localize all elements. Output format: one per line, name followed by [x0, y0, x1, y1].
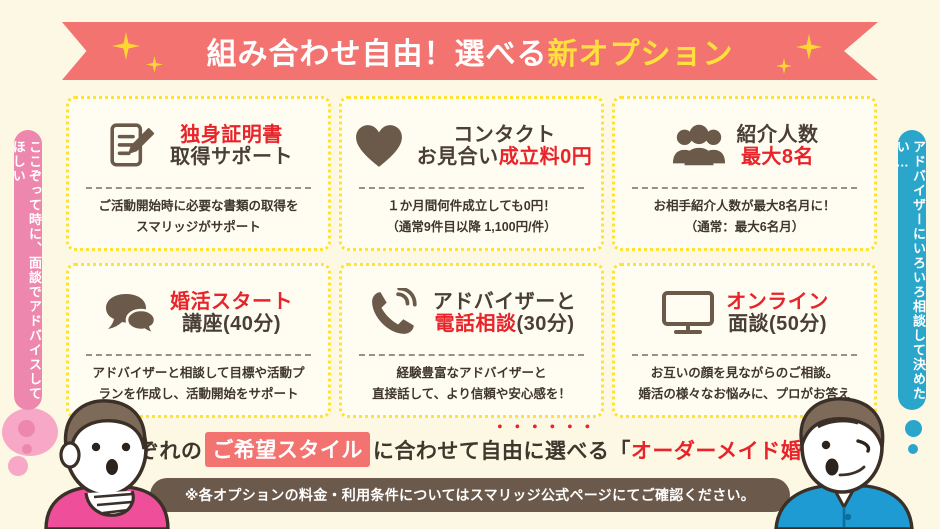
heart-icon — [351, 118, 407, 174]
card-description: 経験豊富なアドバイザーと 直接話して、より信頼や安心感を！ — [372, 363, 571, 404]
card-header: コンタクト お見合い成立料0円 — [350, 109, 593, 183]
card-description-line1: お互いの顔を見ながらのご相談。 — [638, 363, 850, 384]
tagline-part-2: に合わせて — [373, 435, 481, 465]
option-card-contact-fee[interactable]: コンタクト お見合い成立料0円 １か月間何件成立しても0円！ （通常9件目以降 … — [339, 96, 604, 251]
speech-bubbles-icon — [104, 285, 160, 341]
card-description-line2: （通常：最大6名月） — [654, 217, 836, 238]
tagline-emphasized: 自由に選べる — [480, 435, 609, 465]
card-description-line2: 直接話して、より信頼や安心感を！ — [372, 384, 571, 405]
card-title-block: アドバイザーと 電話相談(30分) — [433, 291, 577, 336]
card-description-line2: （通常9件目以降 1,100円/件） — [386, 217, 556, 238]
option-card-introduction-count[interactable]: 紹介人数 最大8名 お相手紹介人数が最大8名月に！ （通常：最大6名月） — [612, 96, 877, 251]
card-title-line2-accent: 成立料0円 — [499, 146, 593, 168]
card-title-line2: お見合い成立料0円 — [417, 146, 593, 168]
phone-ringing-icon — [367, 285, 423, 341]
option-card-phone-consult[interactable]: アドバイザーと 電話相談(30分) 経験豊富なアドバイザーと 直接話して、より信… — [339, 263, 604, 418]
card-header: オンライン 面談(50分) — [623, 276, 866, 350]
card-description: ご活動開始時に必要な書類の取得を スマリッジがサポート — [98, 196, 298, 237]
card-description: お相手紹介人数が最大8名月に！ （通常：最大6名月） — [654, 196, 836, 237]
card-description-line2: スマリッジがサポート — [98, 217, 298, 238]
card-title-line2: 最大8名 — [741, 146, 814, 168]
side-tab-left: ここぞって時に、面談でアドバイスしてほしい — [14, 130, 42, 410]
option-card-single-certificate[interactable]: 独身証明書 取得サポート ご活動開始時に必要な書類の取得を スマリッジがサポート — [66, 96, 331, 251]
card-description-line1: 経験豊富なアドバイザーと — [372, 363, 571, 384]
options-card-grid: 独身証明書 取得サポート ご活動開始時に必要な書類の取得を スマリッジがサポート… — [66, 96, 878, 418]
illustration-man — [762, 397, 922, 529]
card-divider — [86, 187, 312, 189]
card-title-line1: アドバイザーと — [433, 291, 577, 313]
monitor-icon — [660, 285, 716, 341]
tagline-highlight: ご希望スタイル — [205, 432, 370, 467]
banner-title-main: 組み合わせ自由！選べる — [207, 29, 548, 73]
option-card-start-seminar[interactable]: 婚活スタート 講座(40分) アドバイザーと相談して目標や活動プ ランを作成し、… — [66, 263, 331, 418]
card-title-block: コンタクト お見合い成立料0円 — [417, 124, 593, 169]
card-description: １か月間何件成立しても0円！ （通常9件目以降 1,100円/件） — [386, 196, 556, 237]
card-divider — [632, 187, 858, 189]
card-header: 独身証明書 取得サポート — [77, 109, 320, 183]
card-description-line1: １か月間何件成立しても0円！ — [386, 196, 556, 217]
card-title-line2-prefix: お見合い — [417, 146, 499, 168]
card-title-block: 紹介人数 最大8名 — [737, 124, 819, 169]
card-title-line2: 面談(50分) — [728, 313, 827, 335]
document-pencil-icon — [104, 118, 160, 174]
card-title-block: 独身証明書 取得サポート — [170, 124, 293, 169]
card-header: 婚活スタート 講座(40分) — [77, 276, 320, 350]
card-description-line1: お相手紹介人数が最大8名月に！ — [654, 196, 836, 217]
card-title-line2: 講座(40分) — [182, 313, 281, 335]
card-divider — [632, 354, 858, 356]
card-description-line1: ご活動開始時に必要な書類の取得を — [98, 196, 298, 217]
card-title-line1: 独身証明書 — [180, 124, 283, 146]
card-divider — [86, 354, 312, 356]
card-title-line1: 紹介人数 — [737, 124, 819, 146]
card-header: アドバイザーと 電話相談(30分) — [350, 276, 593, 350]
card-title-line2: 取得サポート — [170, 146, 293, 168]
tagline-bracket-open: 「 — [609, 435, 631, 465]
side-tab-right: アドバイザーにいろいろ相談して決めたい… — [898, 130, 926, 410]
card-title-block: 婚活スタート 講座(40分) — [170, 291, 293, 336]
banner-title: 組み合わせ自由！選べる 新オプション — [0, 22, 940, 80]
header-banner: 組み合わせ自由！選べる 新オプション — [0, 22, 940, 80]
card-title-line1: 婚活スタート — [170, 291, 293, 313]
banner-title-accent: 新オプション — [548, 29, 734, 73]
card-title-block: オンライン 面談(50分) — [726, 291, 829, 336]
card-title-line1: オンライン — [726, 291, 829, 313]
card-divider — [359, 187, 585, 189]
card-title-line1: コンタクト — [453, 124, 556, 146]
card-title-line2-suffix: (30分) — [516, 313, 574, 335]
option-card-online-interview[interactable]: オンライン 面談(50分) お互いの顔を見ながらのご相談。 婚活の様々なお悩みに… — [612, 263, 877, 418]
card-title-line2-prefix: 電話相談 — [434, 313, 516, 335]
illustration-woman — [28, 397, 178, 529]
card-title-line2: 電話相談(30分) — [434, 313, 574, 335]
card-description-line1: アドバイザーと相談して目標や活動プ — [92, 363, 304, 384]
card-header: 紹介人数 最大8名 — [623, 109, 866, 183]
footnote-pill: ※各オプションの料金・利用条件についてはスマリッジ公式ページにてご確認ください。 — [150, 478, 790, 512]
card-divider — [359, 354, 585, 356]
people-group-icon — [671, 118, 727, 174]
